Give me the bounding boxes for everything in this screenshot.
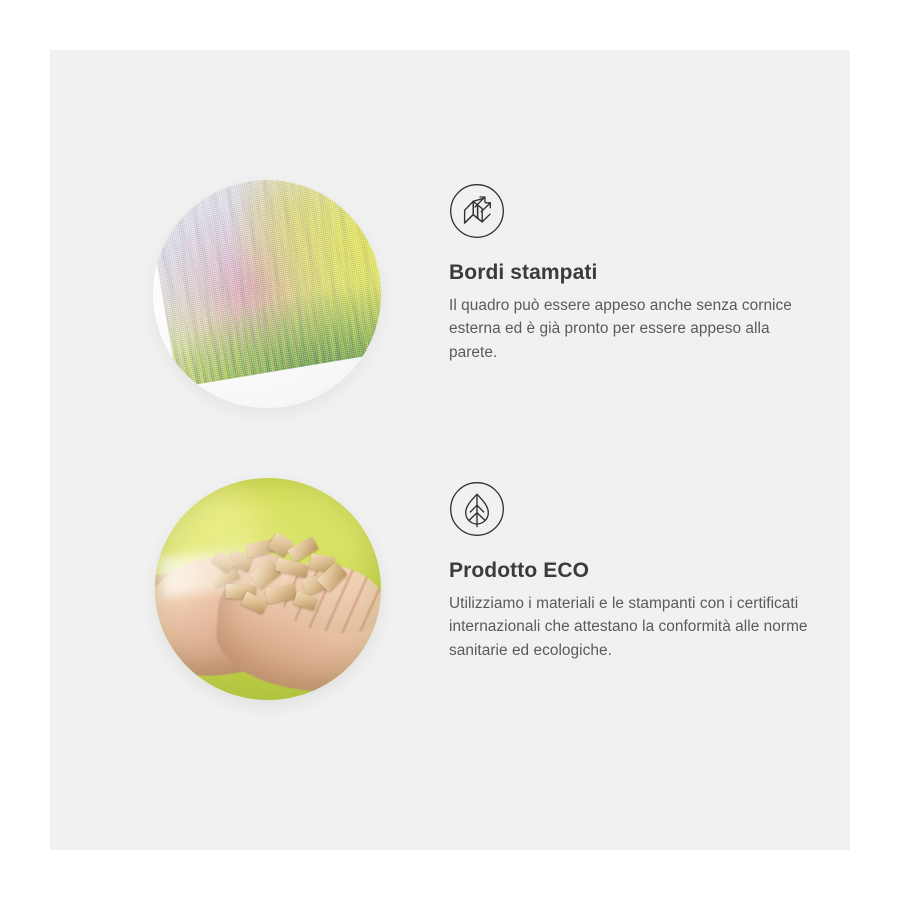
- canvas-corner-photo: [153, 180, 381, 408]
- content-panel: Bordi stampati Il quadro può essere appe…: [50, 50, 850, 850]
- leaf-icon: [449, 481, 811, 537]
- photo-vignette: [155, 478, 381, 700]
- feature-description: Utilizziamo i materiali e le stampanti c…: [449, 592, 811, 662]
- feature-description: Il quadro può essere appeso anche senza …: [449, 294, 811, 364]
- feature-copy: Bordi stampati Il quadro può essere appe…: [381, 180, 811, 364]
- feature-title: Bordi stampati: [449, 261, 811, 285]
- canvas-specular-light: [153, 180, 381, 388]
- printed-edges-icon: [449, 183, 811, 239]
- feature-copy: Prodotto ECO Utilizziamo i materiali e l…: [381, 478, 811, 662]
- product-info-page: Bordi stampati Il quadro può essere appe…: [0, 0, 900, 900]
- feature-prodotto-eco: Prodotto ECO Utilizziamo i materiali e l…: [155, 478, 811, 700]
- feature-title: Prodotto ECO: [449, 559, 811, 583]
- eco-wood-chips-photo: [155, 478, 381, 700]
- canvas-printed-face: [153, 180, 381, 388]
- feature-bordi-stampati: Bordi stampati Il quadro può essere appe…: [153, 180, 811, 408]
